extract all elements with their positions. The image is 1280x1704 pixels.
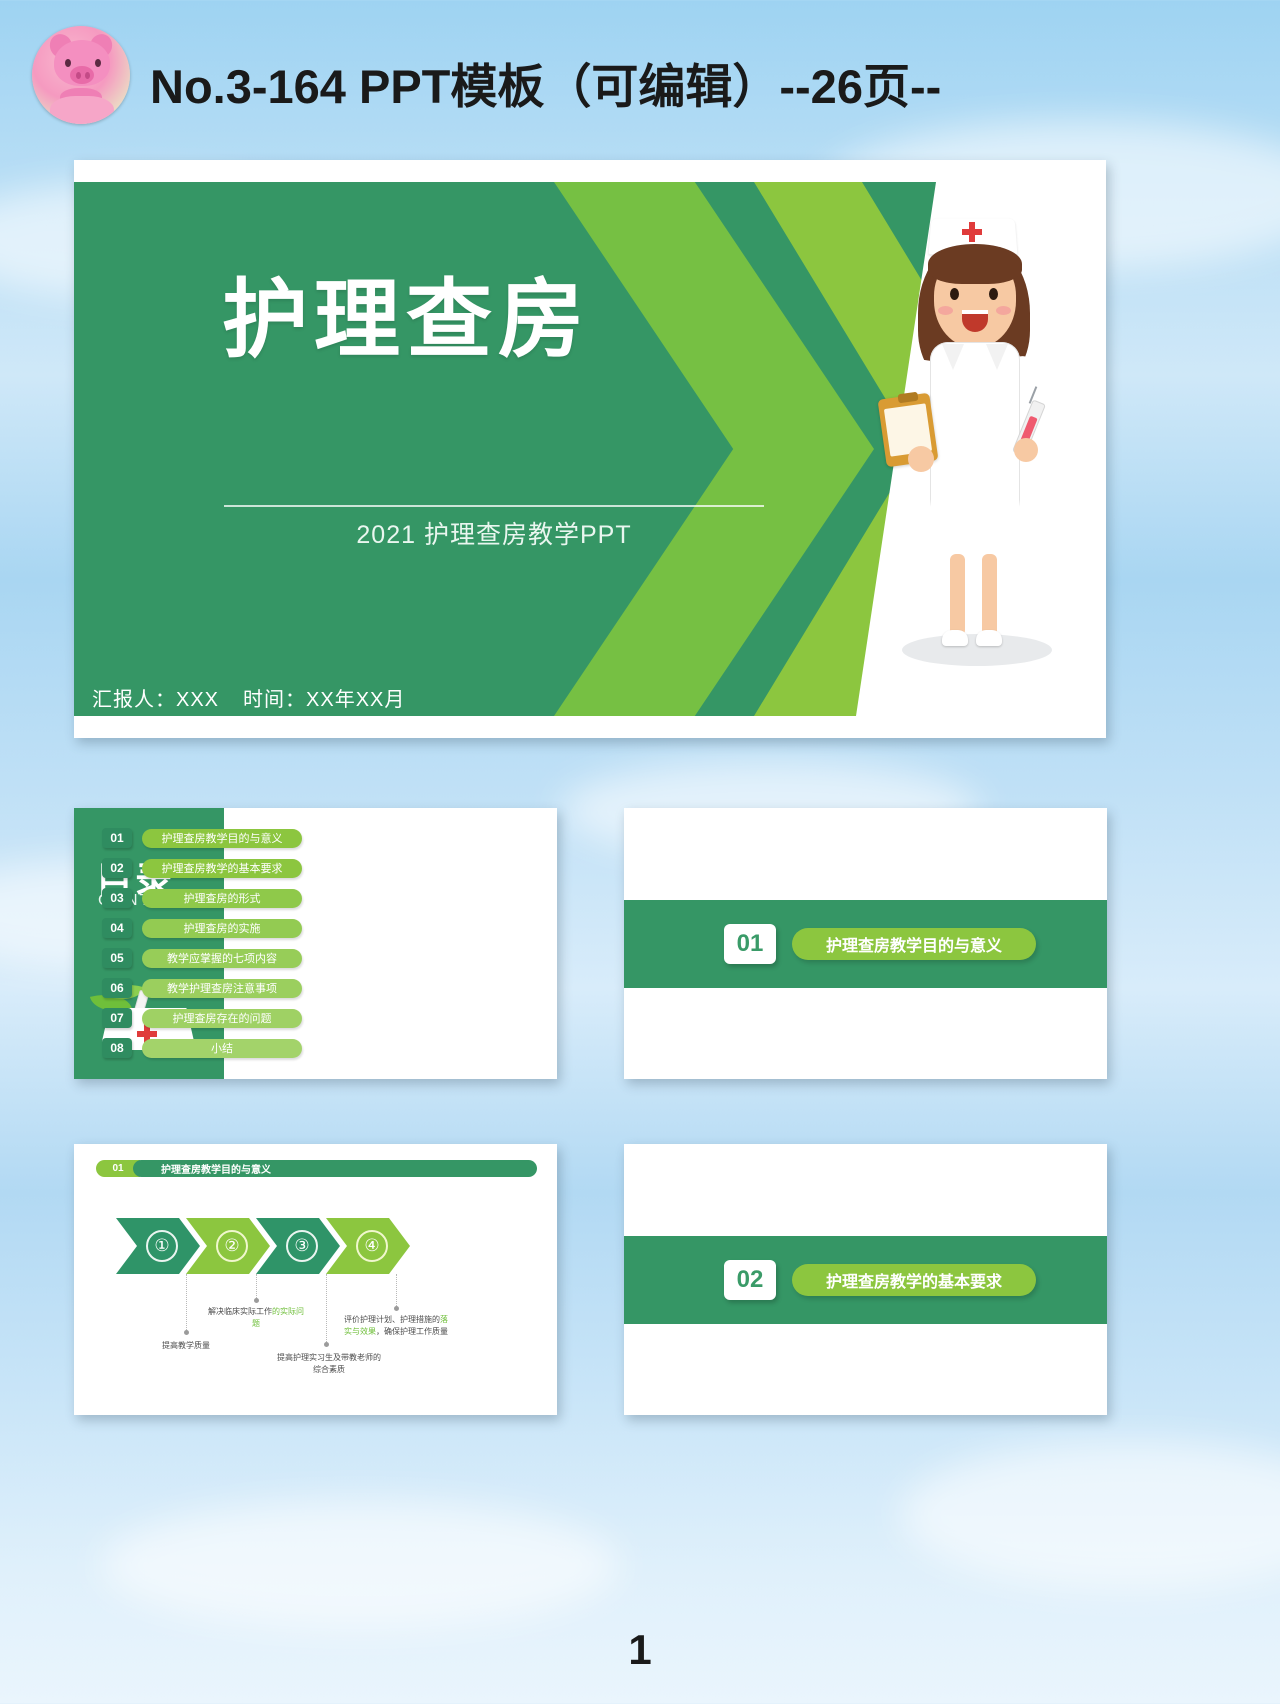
toc-item-number: 06: [102, 978, 132, 998]
cover-divider: [224, 505, 764, 507]
content-heading: 01 护理查房教学目的与意义: [96, 1160, 537, 1177]
toc-item-number: 01: [102, 828, 132, 848]
process-caption-3: 提高护理实习生及带教老师的综合素质: [274, 1352, 384, 1375]
slide-content-process[interactable]: 01 护理查房教学目的与意义 ① ② ③ ④ 提高教学质量 解决临床实际工作的实…: [74, 1144, 557, 1415]
toc-item-number: 04: [102, 918, 132, 938]
page-number: 1: [0, 1626, 1280, 1674]
pig-eye-right-icon: [95, 59, 101, 67]
page-header: No.3-164 PPT模板（可编辑）--26页--: [0, 0, 1280, 148]
toc-item-label: 小结: [142, 1039, 302, 1058]
connector-dot: [184, 1330, 189, 1335]
pig-snout-icon: [70, 66, 94, 84]
toc-item-05[interactable]: 05 教学应掌握的七项内容: [102, 948, 302, 968]
nurse-shoe-icon: [942, 630, 968, 646]
toc-item-07[interactable]: 07 护理查房存在的问题: [102, 1008, 302, 1028]
toc-item-label: 教学应掌握的七项内容: [142, 949, 302, 968]
section-heading-group: 02 护理查房教学的基本要求: [724, 1260, 1036, 1300]
red-cross-icon: [137, 1031, 157, 1037]
caption-text: 评价护理计划、护理措施的: [344, 1315, 440, 1324]
toc-item-08[interactable]: 08 小结: [102, 1038, 302, 1058]
toc-item-number: 07: [102, 1008, 132, 1028]
toc-item-label: 护理查房的形式: [142, 889, 302, 908]
cloud-decoration: [100, 1500, 620, 1630]
nurse-hand-icon: [1014, 438, 1038, 462]
cloud-decoration: [900, 1440, 1280, 1590]
caption-text: ，确保护理工作质量: [376, 1327, 448, 1336]
toc-item-label: 护理查房存在的问题: [142, 1009, 302, 1028]
connector-line: [186, 1274, 188, 1332]
process-caption-1: 提高教学质量: [136, 1340, 236, 1352]
process-step-number: ①: [146, 1230, 178, 1262]
connector-dot: [394, 1306, 399, 1311]
toc-item-label: 教学护理查房注意事项: [142, 979, 302, 998]
nurse-illustration: [846, 210, 1096, 716]
cover-date: 时间：XX年XX月: [243, 689, 405, 711]
cover-reporter: 汇报人：XXX: [92, 689, 219, 711]
slide-cover[interactable]: 护理查房 2021 护理查房教学PPT 汇报人：XXX时间：XX年XX月: [74, 160, 1106, 738]
nurse-shoe-icon: [976, 630, 1002, 646]
slide-table-of-contents[interactable]: 目录 CONTENTS 01 护理查房教学目的与意义 02 护理查房教学的基本要…: [74, 808, 557, 1079]
nurse-hand-icon: [908, 446, 934, 472]
pig-body-icon: [50, 96, 114, 124]
cover-top-strip: [74, 160, 1106, 182]
nurse-fringe-icon: [928, 244, 1022, 284]
content-heading-label: 护理查房教学目的与意义: [133, 1160, 537, 1177]
nurse-cheek-icon: [938, 306, 953, 315]
toc-item-02[interactable]: 02 护理查房教学的基本要求: [102, 858, 302, 878]
toc-item-06[interactable]: 06 教学护理查房注意事项: [102, 978, 302, 998]
connector-line: [256, 1274, 258, 1300]
caption-text: 解决临床实际工作: [208, 1307, 272, 1316]
process-step-1[interactable]: ①: [116, 1218, 200, 1274]
pig-nostril-icon: [76, 72, 81, 79]
connector-dot: [254, 1298, 259, 1303]
toc-item-01[interactable]: 01 护理查房教学目的与意义: [102, 828, 302, 848]
page-title: No.3-164 PPT模板（可编辑）--26页--: [150, 48, 941, 117]
toc-item-03[interactable]: 03 护理查房的形式: [102, 888, 302, 908]
cover-title: 护理查房: [222, 275, 590, 365]
toc-item-04[interactable]: 04 护理查房的实施: [102, 918, 302, 938]
section-number: 01: [724, 924, 776, 964]
nurse-cheek-icon: [996, 306, 1011, 315]
nurse-eye-icon: [950, 288, 959, 300]
nurse-eye-icon: [989, 288, 998, 300]
section-heading-group: 01 护理查房教学目的与意义: [724, 924, 1036, 964]
avatar: [32, 26, 130, 124]
connector-dot: [324, 1342, 329, 1347]
section-label: 护理查房教学的基本要求: [792, 1264, 1036, 1296]
connector-line: [396, 1274, 398, 1308]
process-chevron-row: ① ② ③ ④: [116, 1218, 410, 1274]
toc-item-number: 05: [102, 948, 132, 968]
toc-item-number: 08: [102, 1038, 132, 1058]
nurse-uniform-icon: [930, 342, 1020, 512]
nurse-leg-icon: [950, 554, 965, 636]
section-label: 护理查房教学目的与意义: [792, 928, 1036, 960]
toc-item-number: 03: [102, 888, 132, 908]
section-number: 02: [724, 1260, 776, 1300]
toc-item-label: 护理查房教学的基本要求: [142, 859, 302, 878]
pig-eye-left-icon: [65, 59, 71, 67]
process-caption-4: 评价护理计划、护理措施的落实与效果，确保护理工作质量: [342, 1314, 450, 1337]
toc-item-label: 护理查房的实施: [142, 919, 302, 938]
process-step-number: ③: [286, 1230, 318, 1262]
nurse-leg-icon: [982, 554, 997, 636]
process-step-number: ④: [356, 1230, 388, 1262]
toc-item-label: 护理查房教学目的与意义: [142, 829, 302, 848]
process-caption-2: 解决临床实际工作的实际问题: [206, 1306, 306, 1329]
pig-nostril-icon: [85, 72, 90, 79]
cover-footer: 汇报人：XXX时间：XX年XX月: [92, 683, 429, 712]
red-cross-icon: [962, 229, 982, 235]
toc-item-number: 02: [102, 858, 132, 878]
slide-section-divider-02[interactable]: 02 护理查房教学的基本要求: [624, 1144, 1107, 1415]
nurse-skirt-icon: [924, 490, 1026, 556]
cover-subtitle: 2021 护理查房教学PPT: [224, 515, 764, 551]
slide-section-divider-01[interactable]: 01 护理查房教学目的与意义: [624, 808, 1107, 1079]
process-step-number: ②: [216, 1230, 248, 1262]
connector-line: [326, 1274, 328, 1344]
